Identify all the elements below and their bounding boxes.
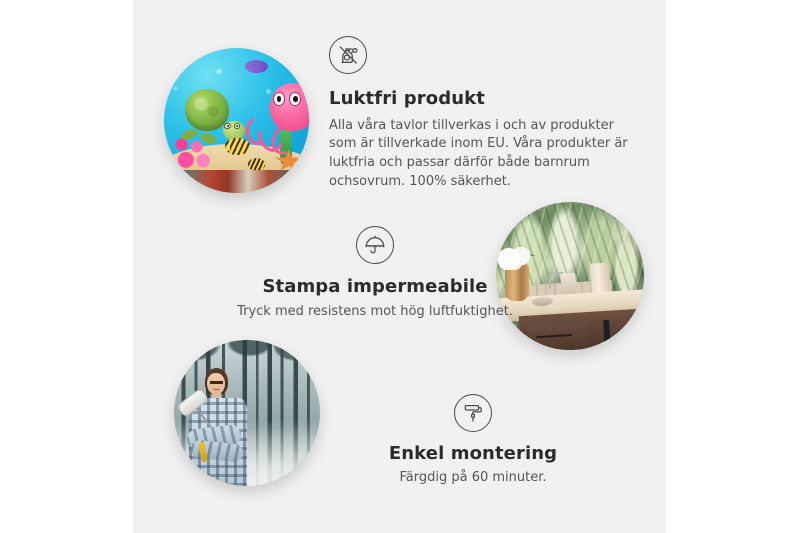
umbrella-icon [356, 226, 394, 264]
feature-title: Enkel montering [348, 443, 598, 465]
no-fragrance-icon [329, 36, 367, 74]
woman-with-roller [186, 363, 277, 486]
fish-purple-icon [245, 60, 268, 73]
feature-body: Alla våra tavlor tillverkas i och av pro… [329, 117, 629, 192]
feature-title: Luktfri produkt [329, 88, 629, 110]
feature-banner: Luktfri produkt Alla våra tavlor tillver… [0, 0, 800, 533]
feature-waterproof: Stampa impermeabile Tryck med resistens … [215, 226, 535, 321]
aquarium-scene [164, 48, 309, 193]
turtle-icon [180, 86, 247, 144]
sea-floor-strip [164, 170, 309, 193]
feature-odourless: Luktfri produkt Alla våra tavlor tillver… [329, 36, 629, 192]
feature-body: Tryck med resistens mot hög luftfuktighe… [215, 303, 535, 322]
feature-panel: Luktfri produkt Alla våra tavlor tillver… [133, 0, 666, 533]
painter-scene [174, 340, 320, 486]
paint-roller-icon [454, 394, 492, 432]
product-photo-painter[interactable] [174, 340, 320, 486]
feature-body: Färgdig på 60 minuter. [348, 469, 598, 488]
feature-assembly: Enkel montering Färgdig på 60 minuter. [348, 394, 598, 487]
product-photo-aquarium[interactable] [164, 48, 309, 193]
fish-yellow-icon [225, 138, 250, 155]
feature-title: Stampa impermeabile [215, 276, 535, 298]
octopus-icon [257, 83, 309, 156]
